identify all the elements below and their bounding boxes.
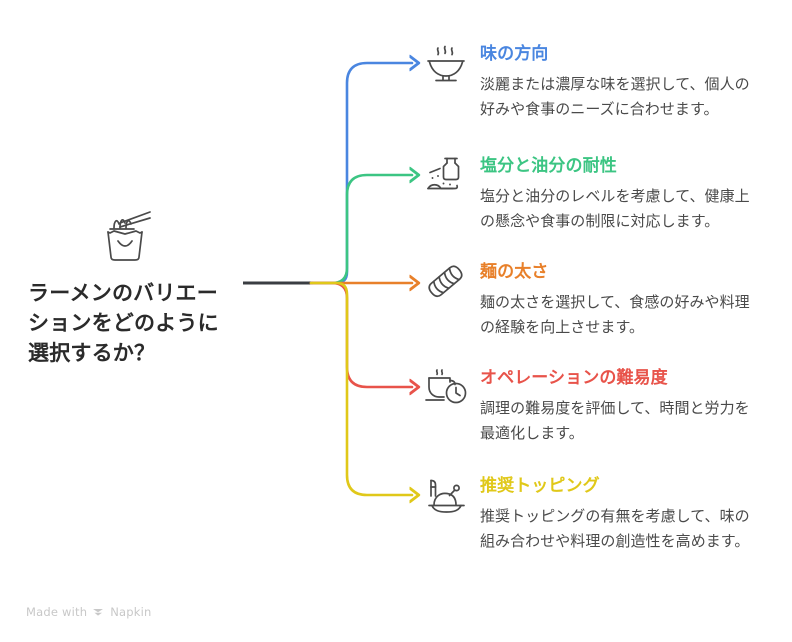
connector-salt-oil-tolerance	[311, 175, 412, 283]
branch-body: 塩分と油分の耐性 塩分と油分のレベルを考慮して、健康上の懸念や食事の制限に対応し…	[480, 156, 764, 233]
connector-recommended-toppings	[311, 283, 412, 495]
branch-description: 淡麗または濃厚な味を選択して、個人の好みや食事のニーズに合わせます。	[480, 72, 764, 121]
branch-salt-oil-tolerance[interactable]: 塩分と油分の耐性 塩分と油分のレベルを考慮して、健康上の懸念や食事の制限に対応し…	[424, 156, 764, 233]
branch-body: 麺の太さ 麺の太さを選択して、食感の好みや料理の経験を向上させます。	[480, 262, 764, 339]
branch-title: 塩分と油分の耐性	[480, 156, 764, 177]
cup-clock-icon	[424, 368, 470, 412]
ramen-bowl-takeout-icon	[90, 205, 160, 267]
connector-flavor-direction	[311, 63, 412, 283]
oil-bottle-splash-icon	[424, 156, 470, 200]
watermark-made-with-label: Made with	[26, 605, 87, 619]
root-title: ラーメンのバリエーションをどのように選択するか？	[28, 279, 228, 368]
branch-noodle-thickness[interactable]: 麺の太さ 麺の太さを選択して、食感の好みや料理の経験を向上させます。	[424, 262, 764, 339]
branch-recommended-toppings[interactable]: 推奨トッピング 推奨トッピングの有無を考慮して、味の組み合わせや料理の創造性を高…	[424, 476, 764, 553]
roast-plate-icon	[424, 476, 470, 520]
mindmap-canvas: ラーメンのバリエーションをどのように選択するか？ 味の方向 淡麗または濃厚な味を…	[0, 0, 792, 642]
branch-title: 味の方向	[480, 44, 764, 65]
watermark-brand-label: Napkin	[110, 605, 151, 619]
branch-body: 推奨トッピング 推奨トッピングの有無を考慮して、味の組み合わせや料理の創造性を高…	[480, 476, 764, 553]
branch-operation-difficulty[interactable]: オペレーションの難易度 調理の難易度を評価して、時間と労力を最適化します。	[424, 368, 764, 445]
steaming-bowl-icon	[424, 44, 470, 88]
branch-description: 推奨トッピングの有無を考慮して、味の組み合わせや料理の創造性を高めます。	[480, 504, 764, 553]
branch-title: オペレーションの難易度	[480, 368, 764, 389]
branch-description: 調理の難易度を評価して、時間と労力を最適化します。	[480, 396, 764, 445]
root-node: ラーメンのバリエーションをどのように選択するか？	[28, 205, 238, 368]
branch-description: 麺の太さを選択して、食感の好みや料理の経験を向上させます。	[480, 290, 764, 339]
connector-operation-difficulty	[311, 283, 412, 387]
branch-body: 味の方向 淡麗または濃厚な味を選択して、個人の好みや食事のニーズに合わせます。	[480, 44, 764, 121]
branch-body: オペレーションの難易度 調理の難易度を評価して、時間と労力を最適化します。	[480, 368, 764, 445]
branch-flavor-direction[interactable]: 味の方向 淡麗または濃厚な味を選択して、個人の好みや食事のニーズに合わせます。	[424, 44, 764, 121]
branch-description: 塩分と油分のレベルを考慮して、健康上の懸念や食事の制限に対応します。	[480, 184, 764, 233]
noodle-bundle-icon	[424, 262, 470, 306]
napkin-logo-icon	[92, 606, 105, 619]
branch-title: 推奨トッピング	[480, 476, 764, 497]
branch-title: 麺の太さ	[480, 262, 764, 283]
watermark: Made with Napkin	[26, 605, 152, 619]
